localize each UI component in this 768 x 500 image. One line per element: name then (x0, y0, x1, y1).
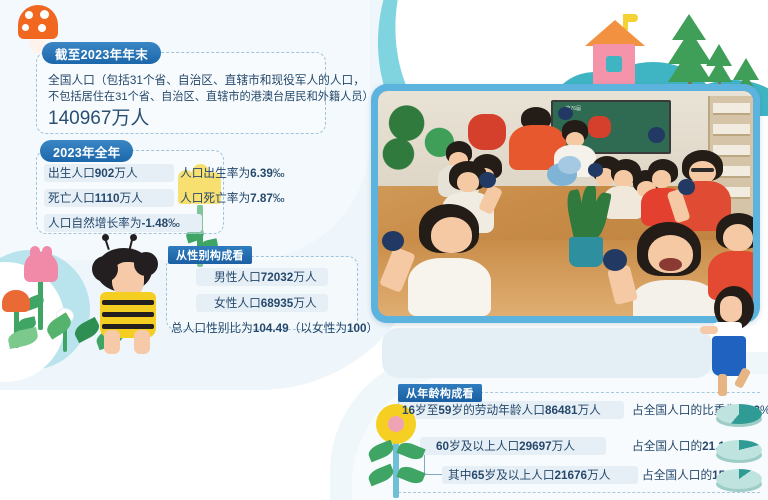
age-row1-label: 16岁至59岁的劳动年龄人口86481万人 (402, 402, 601, 419)
badge-year-end: 截至2023年年末 (42, 42, 161, 64)
age-dashline-bottom (398, 492, 760, 493)
badge-age: 从年龄构成看 (398, 384, 482, 402)
male-population: 男性人口72032万人 (214, 269, 317, 286)
death-count: 死亡人口1110万人 (48, 190, 143, 207)
age-row2-label: 60岁及以上人口29697万人 (436, 438, 575, 455)
year-end-note-line2: 不包括居住在31个省、自治区、直辖市的港澳台居民和外籍人员） (48, 89, 374, 106)
age-dashline-top (470, 392, 760, 393)
female-population: 女性人口68935万人 (214, 295, 317, 312)
classroom-photo: 第76届 (371, 84, 760, 323)
total-population-value: 140967万人 (48, 108, 149, 130)
empty-caption-panel (382, 328, 712, 378)
age-row1-pie (716, 404, 762, 428)
badge-gender: 从性别构成看 (168, 246, 252, 264)
birth-count: 出生人口902万人 (48, 165, 138, 182)
age-row3-pie (716, 469, 762, 493)
gender-ratio: 总人口性别比为104.49（以女性为100） (171, 320, 378, 337)
year-end-note-line1: 全国人口（包括31个省、自治区、直辖市和现役军人的人口， (48, 72, 365, 89)
age-row3-label: 其中65岁及以上人口21676万人 (448, 467, 610, 484)
birth-rate: 人口出生率为6.39‰ (180, 165, 285, 182)
badge-full-year: 2023年全年 (40, 140, 133, 162)
age-row3-connector-h (424, 474, 442, 475)
infographic-canvas: 截至2023年年末 全国人口（包括31个省、自治区、直辖市和现役军人的人口， 不… (0, 0, 768, 500)
age-row2-pie (716, 440, 762, 464)
natural-growth-rate: 人口自然增长率为-1.48‰ (48, 215, 180, 232)
death-rate: 人口死亡率为7.87‰ (180, 190, 285, 207)
